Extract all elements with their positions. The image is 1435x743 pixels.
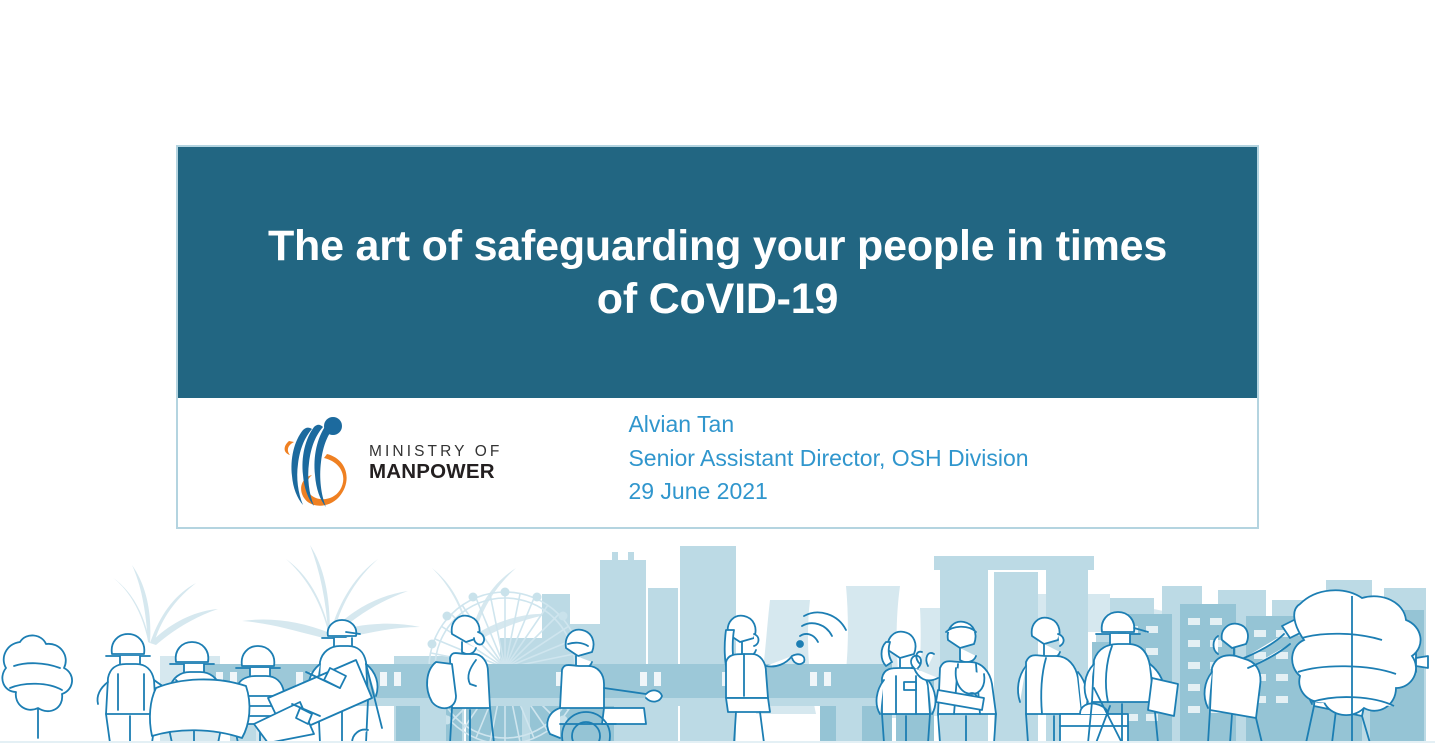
speaker-details: Alvian Tan Senior Assistant Director, OS…	[628, 398, 1028, 509]
tree	[2, 635, 72, 738]
ministry-of-manpower-logo: MINISTRY OF MANPOWER	[178, 398, 502, 511]
singapore-workforce-cityscape-illustration	[0, 538, 1435, 743]
speaker-role: Senior Assistant Director, OSH Division	[628, 442, 1028, 476]
illustration-svg	[0, 538, 1435, 743]
title-banner: The art of safeguarding your people in t…	[178, 147, 1257, 398]
byline-row: MINISTRY OF MANPOWER Alvian Tan Senior A…	[178, 398, 1257, 527]
logo-wordmark: MINISTRY OF MANPOWER	[369, 444, 502, 483]
blueprint	[150, 679, 250, 738]
presentation-date: 29 June 2021	[628, 475, 1028, 509]
mom-logo-mark-icon	[281, 415, 357, 511]
speaker-name: Alvian Tan	[628, 408, 1028, 442]
page-title: The art of safeguarding your people in t…	[250, 220, 1185, 325]
logo-line-manpower: MANPOWER	[369, 462, 502, 483]
presentation-slide: The art of safeguarding your people in t…	[0, 0, 1435, 743]
title-card: The art of safeguarding your people in t…	[176, 145, 1259, 529]
logo-line-ministry-of: MINISTRY OF	[369, 444, 502, 460]
